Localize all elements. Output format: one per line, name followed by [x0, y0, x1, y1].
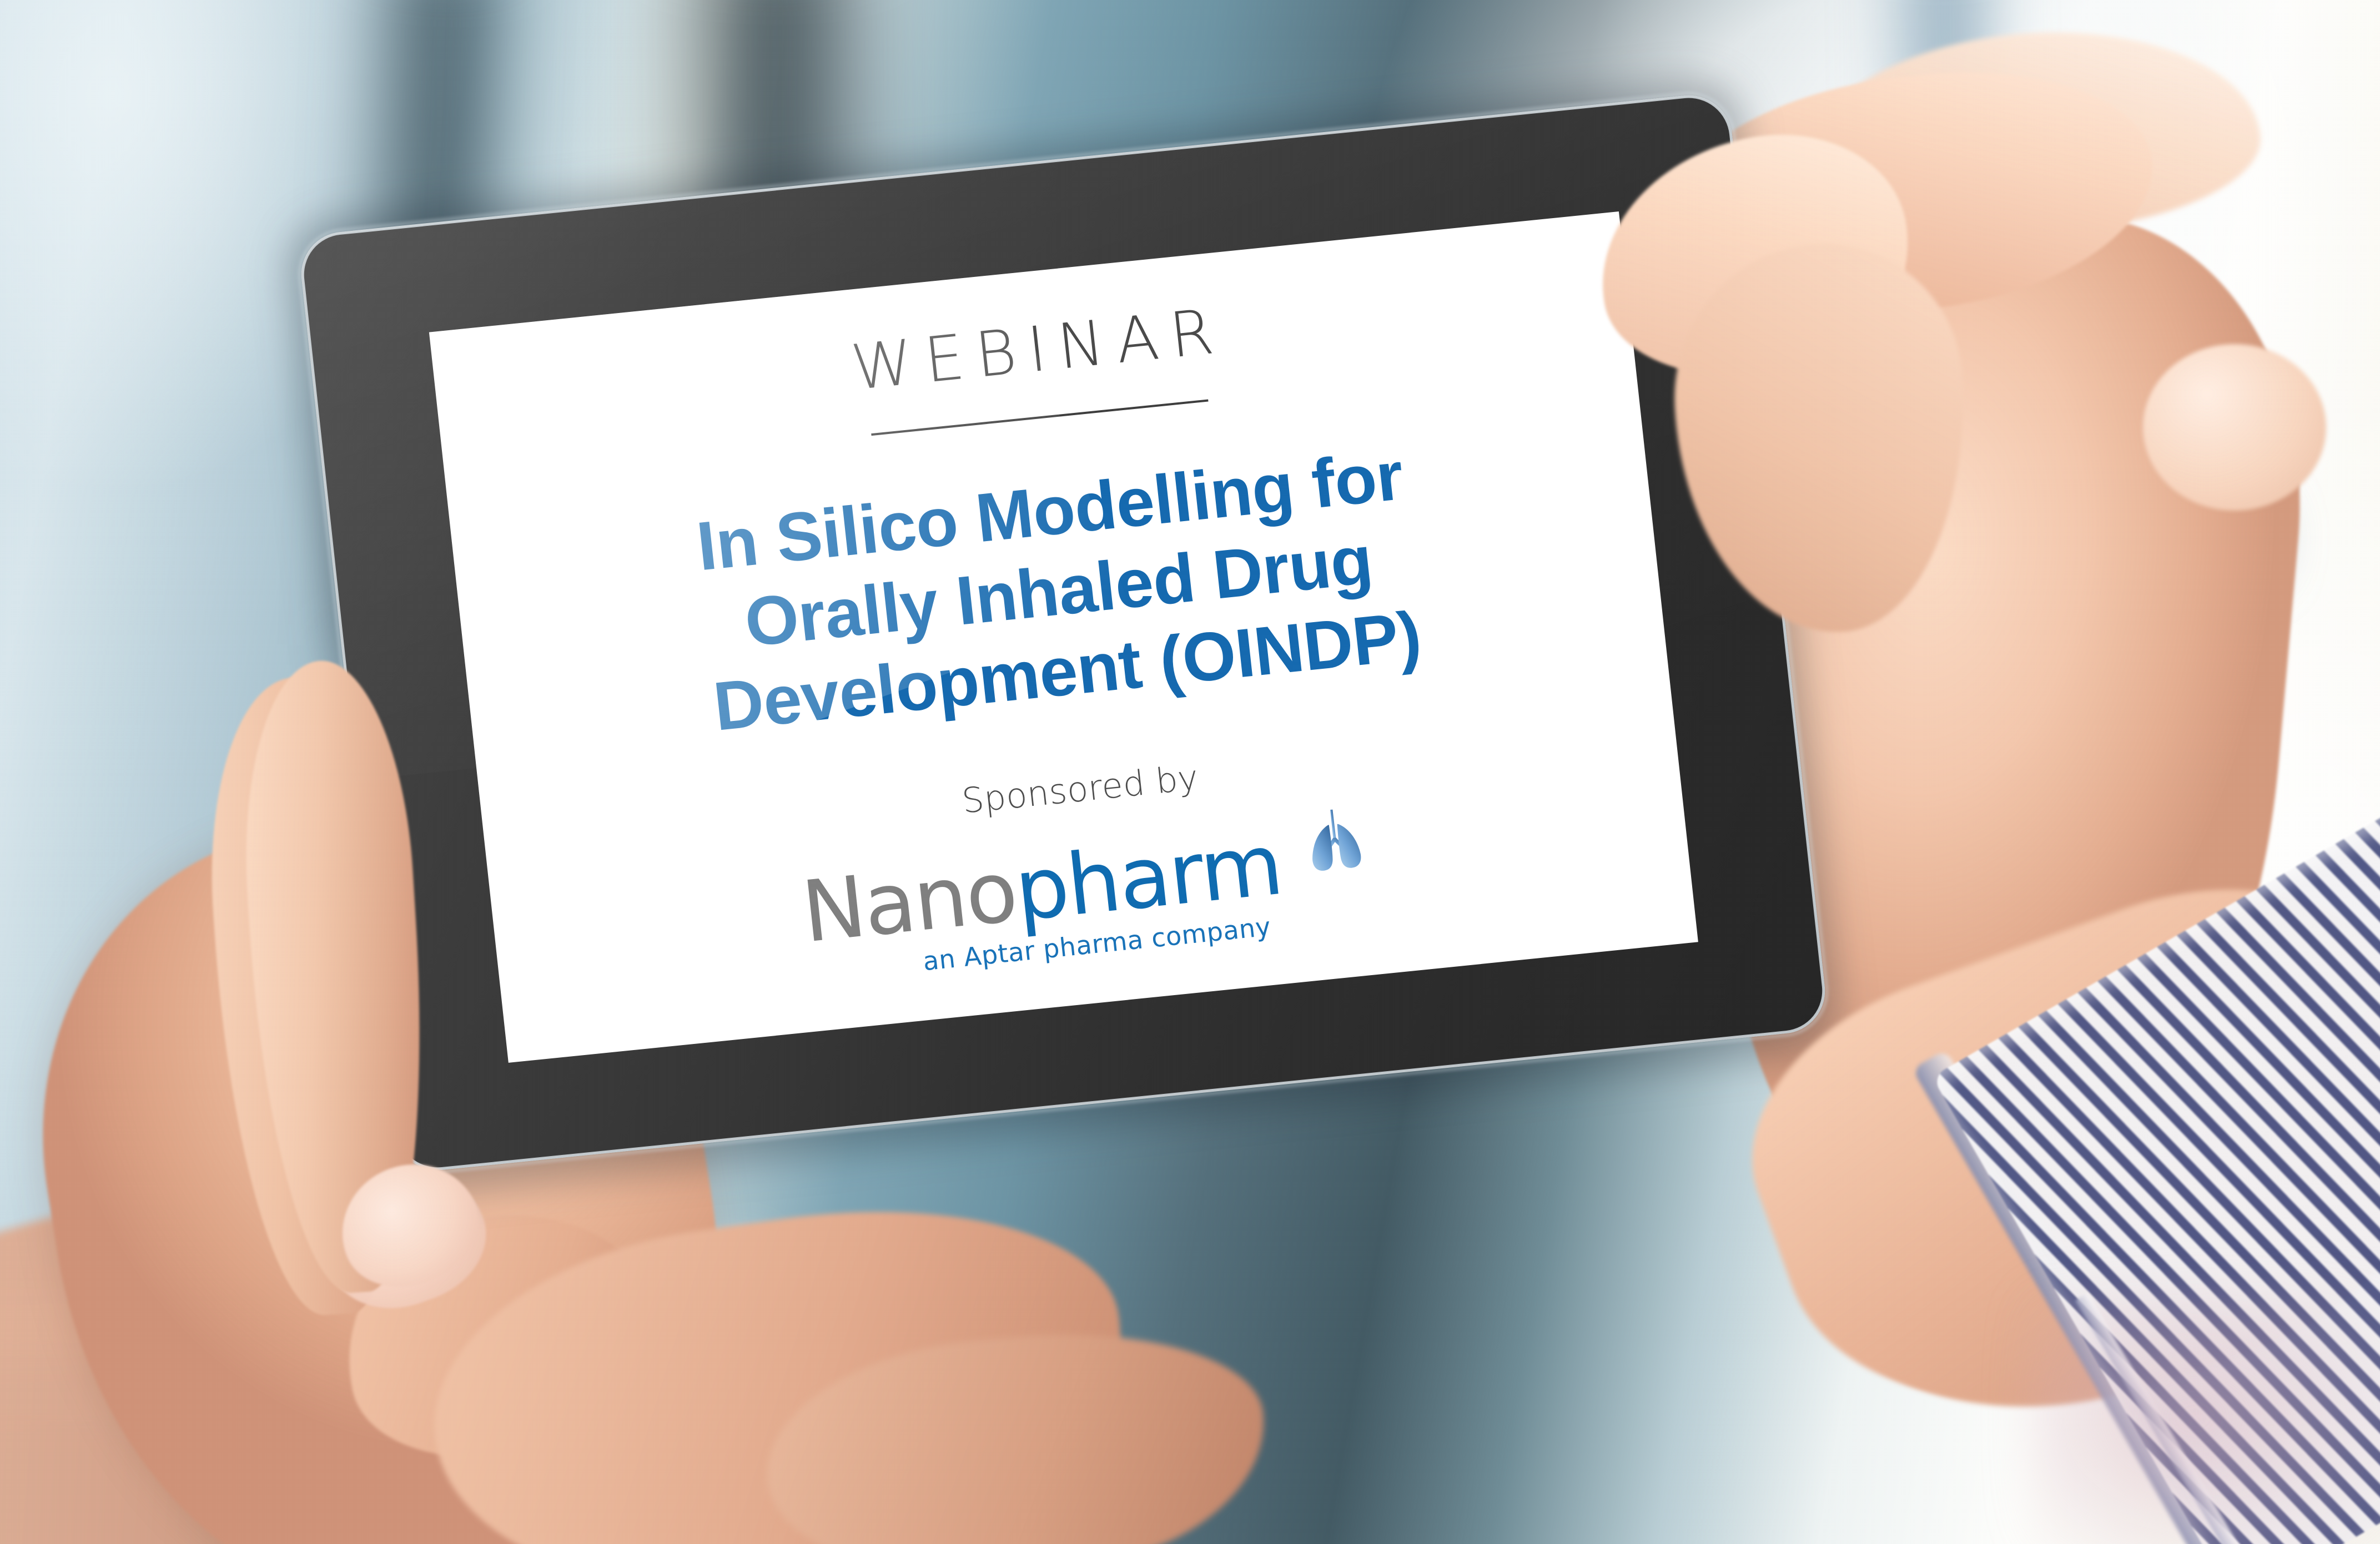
- photo-grain: [0, 0, 2380, 1544]
- screenshot-stage: WEBINAR In Silico Modelling for Orally I…: [0, 0, 2380, 1544]
